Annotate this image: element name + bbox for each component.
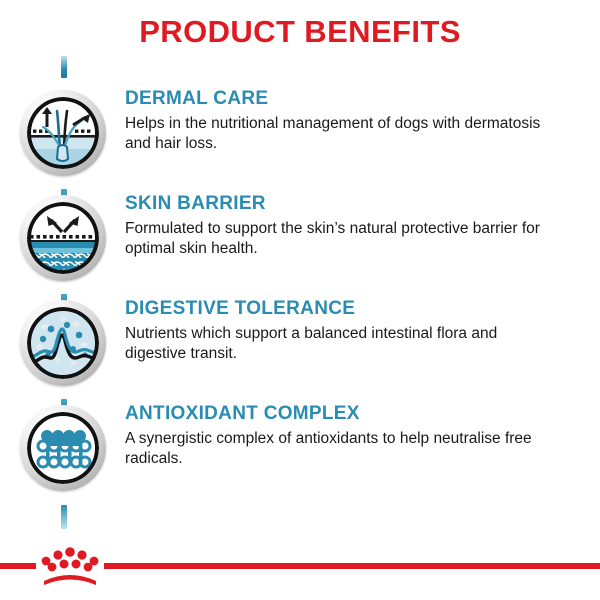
benefit-description: A synergistic complex of antioxidants to… bbox=[125, 429, 557, 469]
footer-rule-right bbox=[104, 563, 600, 569]
benefit-item-skin-barrier: SKIN BARRIER Formulated to support the s… bbox=[0, 191, 600, 296]
digestive-tolerance-icon bbox=[20, 300, 106, 386]
antioxidant-complex-icon-art bbox=[27, 412, 99, 484]
benefits-list: DERMAL CARE Helps in the nutritional man… bbox=[0, 86, 600, 506]
benefit-heading: ANTIOXIDANT COMPLEX bbox=[125, 403, 578, 425]
digestive-tolerance-icon-art bbox=[27, 307, 99, 379]
skin-barrier-icon-art bbox=[27, 202, 99, 274]
benefit-item-digestive-tolerance: DIGESTIVE TOLERANCE Nutrients which supp… bbox=[0, 296, 600, 401]
dermal-care-icon bbox=[20, 90, 106, 176]
benefit-icon-container bbox=[0, 86, 125, 176]
connector-line-bottom bbox=[61, 505, 67, 529]
benefit-item-dermal-care: DERMAL CARE Helps in the nutritional man… bbox=[0, 86, 600, 191]
benefit-text-container: DERMAL CARE Helps in the nutritional man… bbox=[125, 86, 600, 154]
product-benefits-page: PRODUCT BENEFITS bbox=[0, 0, 600, 600]
benefit-description: Helps in the nutritional management of d… bbox=[125, 114, 557, 154]
benefit-text-container: ANTIOXIDANT COMPLEX A synergistic comple… bbox=[125, 401, 600, 469]
benefit-description: Formulated to support the skin’s natural… bbox=[125, 219, 557, 259]
benefit-icon-container bbox=[0, 191, 125, 281]
benefit-heading: DIGESTIVE TOLERANCE bbox=[125, 298, 578, 320]
dermal-care-icon-art bbox=[27, 97, 99, 169]
connector-line-top bbox=[61, 56, 67, 78]
benefit-text-container: DIGESTIVE TOLERANCE Nutrients which supp… bbox=[125, 296, 600, 364]
benefit-heading: SKIN BARRIER bbox=[125, 193, 578, 215]
benefit-text-container: SKIN BARRIER Formulated to support the s… bbox=[125, 191, 600, 259]
benefit-icon-container bbox=[0, 401, 125, 491]
skin-barrier-icon bbox=[20, 195, 106, 281]
benefit-heading: DERMAL CARE bbox=[125, 88, 578, 110]
benefit-item-antioxidant-complex: ANTIOXIDANT COMPLEX A synergistic comple… bbox=[0, 401, 600, 506]
page-title: PRODUCT BENEFITS bbox=[0, 14, 600, 50]
footer bbox=[0, 536, 600, 600]
benefit-icon-container bbox=[0, 296, 125, 386]
benefit-description: Nutrients which support a balanced intes… bbox=[125, 324, 557, 364]
antioxidant-complex-icon bbox=[20, 405, 106, 491]
royal-canin-crown-logo bbox=[38, 544, 102, 586]
footer-rule-left bbox=[0, 563, 36, 569]
